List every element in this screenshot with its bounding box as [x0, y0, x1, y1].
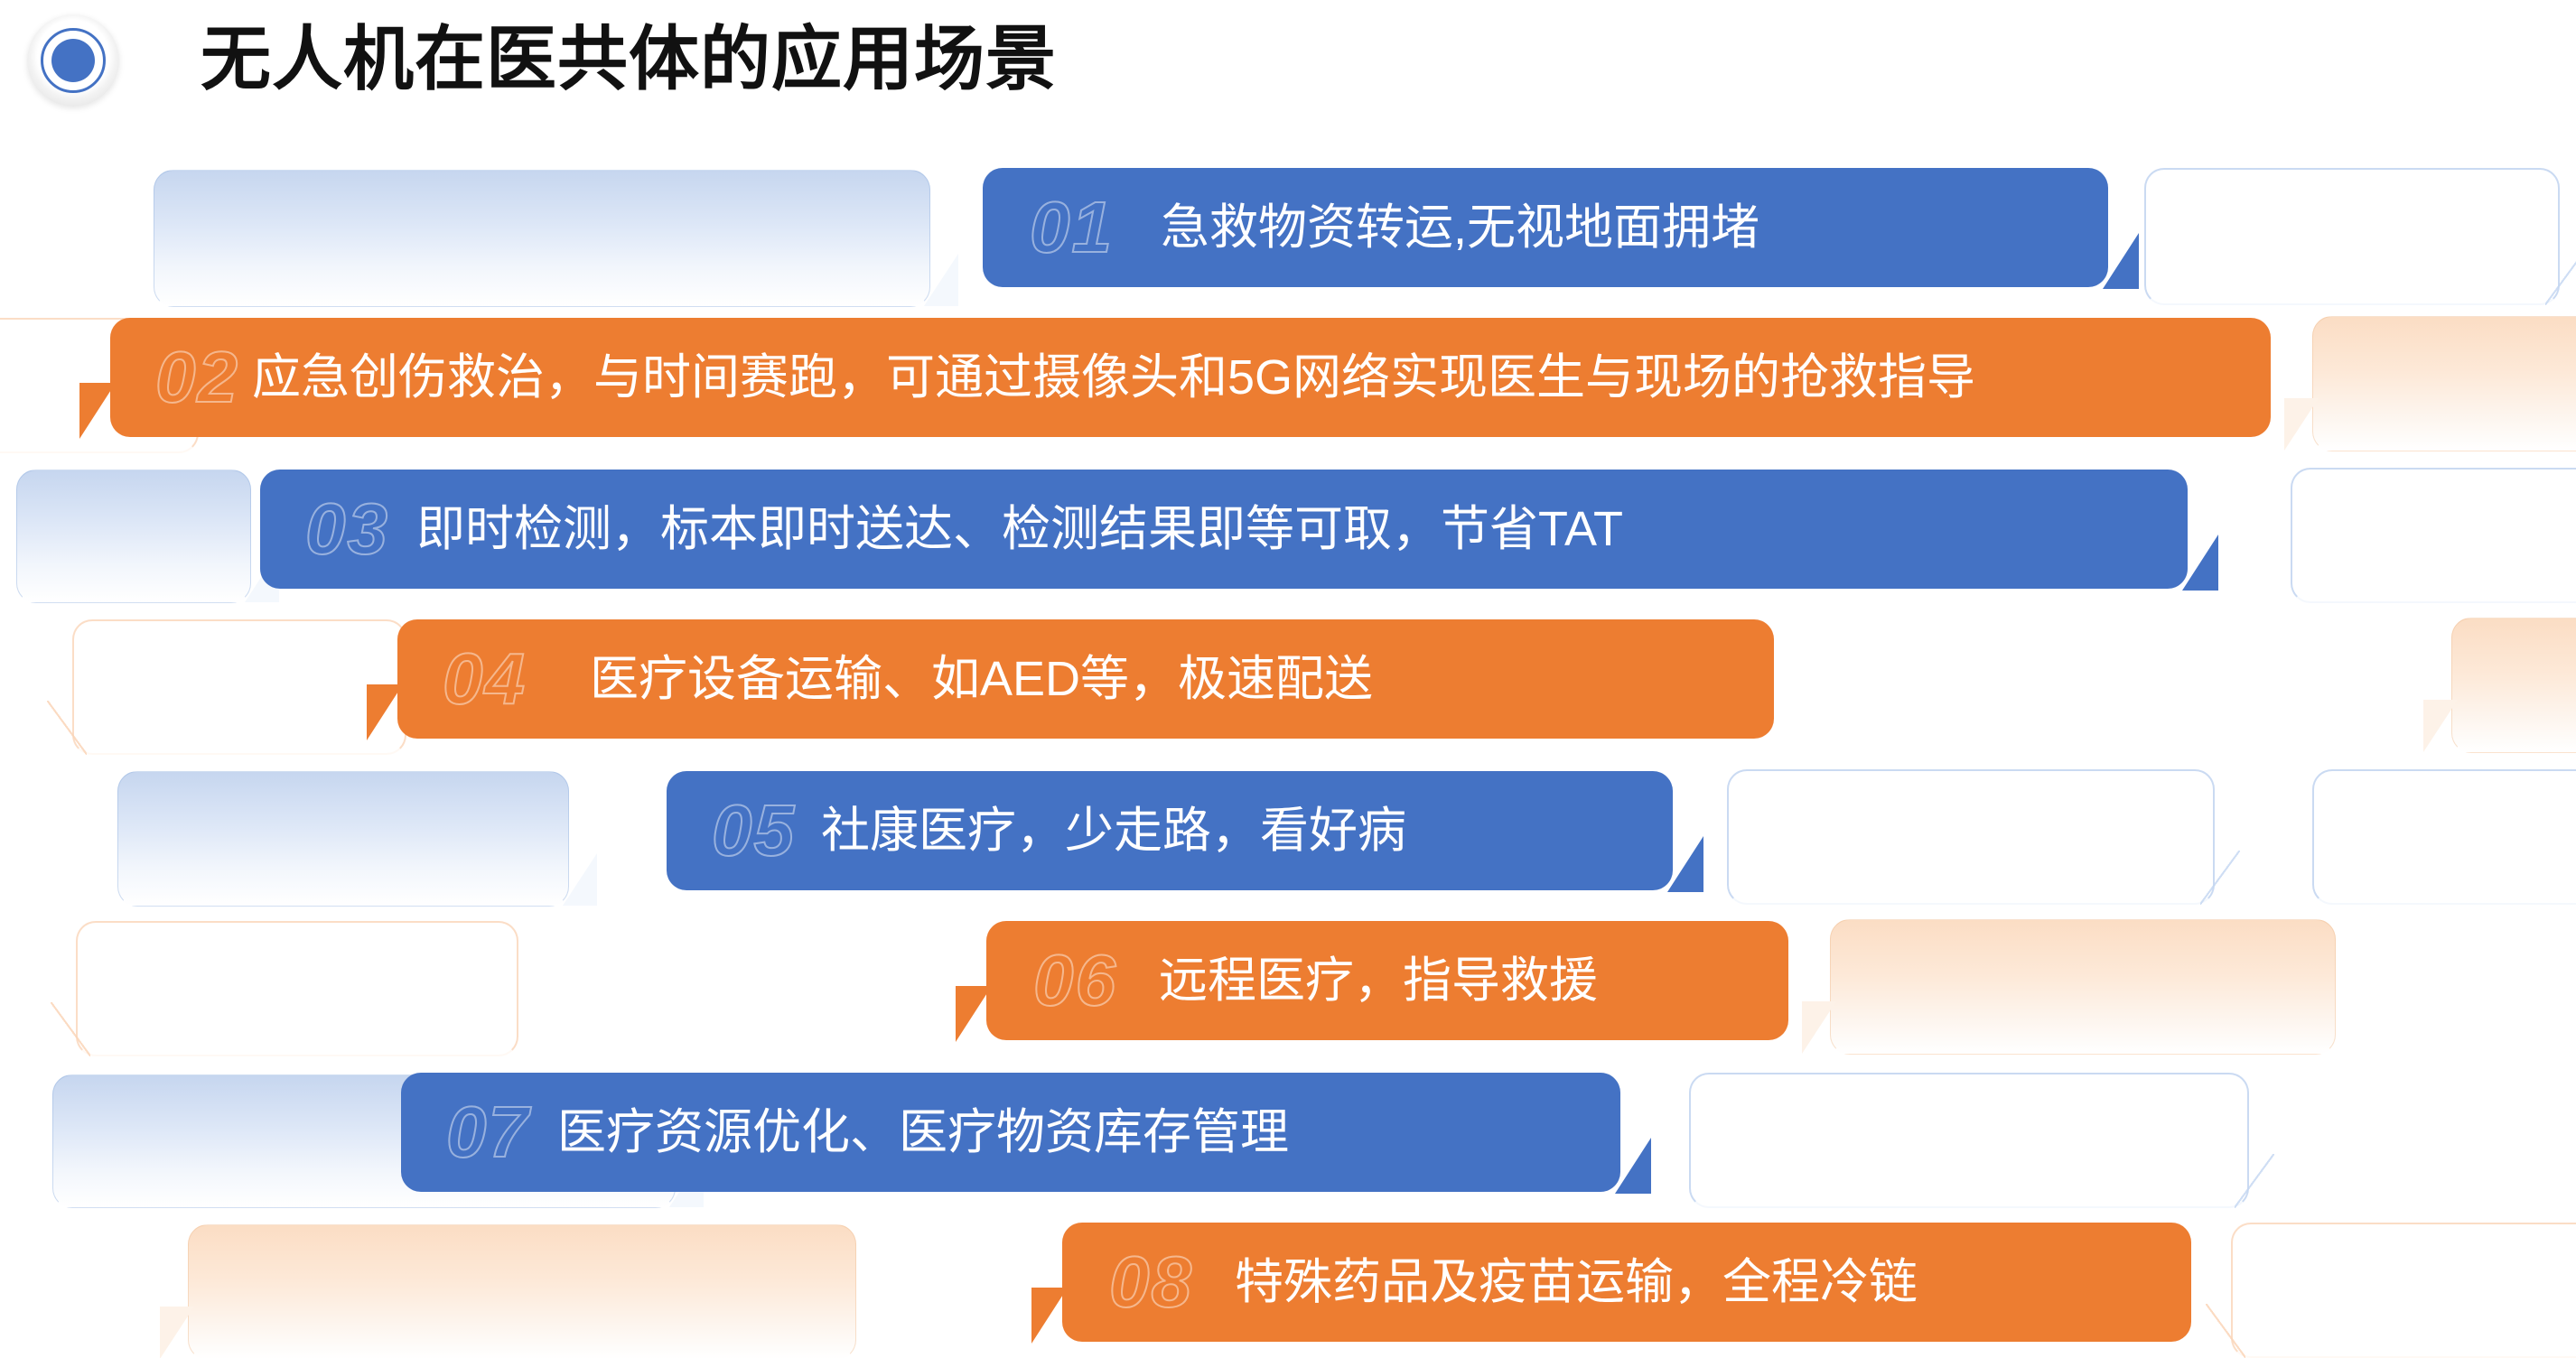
- scenario-bubble-03[interactable]: 03 即时检测，标本即时送达、检测结果即等可取，节省TAT: [260, 470, 2188, 589]
- bubble-number: 01: [1030, 191, 1114, 264]
- bubble-number: 05: [712, 795, 796, 867]
- icon-ring: [41, 28, 106, 93]
- scenario-bubble-08[interactable]: 08 特殊药品及疫苗运输，全程冷链: [1062, 1223, 2191, 1342]
- bubble-number: 02: [155, 341, 239, 414]
- bubble-text: 医疗资源优化、医疗物资库存管理: [557, 1104, 1289, 1160]
- content-bubble-layer: 01 急救物资转运,无视地面拥堵 02 应急创伤救治，与时间赛跑，可通过摄像头和…: [0, 0, 2576, 1358]
- scenario-bubble-07[interactable]: 07 医疗资源优化、医疗物资库存管理: [401, 1073, 1620, 1192]
- bubble-number: 07: [446, 1096, 530, 1168]
- slide-header: 无人机在医共体的应用场景: [0, 0, 2576, 135]
- icon-dot: [51, 39, 95, 82]
- slide-canvas: 无人机在医共体的应用场景 01 急救物资转运,无视地面拥堵 02 应急创伤救治，…: [0, 0, 2576, 1358]
- scenario-bubble-06[interactable]: 06 远程医疗，指导救援: [986, 921, 1788, 1040]
- bubble-text: 远程医疗，指导救援: [1159, 953, 1598, 1009]
- bubble-text: 特殊药品及疫苗运输，全程冷链: [1235, 1254, 1918, 1310]
- bubble-number: 03: [305, 493, 389, 565]
- scenario-bubble-02[interactable]: 02 应急创伤救治，与时间赛跑，可通过摄像头和5G网络实现医生与现场的抢救指导: [110, 318, 2271, 437]
- bubble-number: 06: [1033, 944, 1117, 1017]
- page-title: 无人机在医共体的应用场景: [201, 5, 1057, 112]
- bubble-number: 04: [443, 643, 527, 715]
- bubble-text: 即时检测，标本即时送达、检测结果即等可取，节省TAT: [416, 501, 1623, 557]
- bubble-text: 应急创伤救治，与时间赛跑，可通过摄像头和5G网络实现医生与现场的抢救指导: [252, 349, 1975, 405]
- scenario-bubble-05[interactable]: 05 社康医疗，少走路，看好病: [667, 771, 1673, 890]
- scenario-bubble-01[interactable]: 01 急救物资转运,无视地面拥堵: [983, 168, 2108, 287]
- scenario-bubble-04[interactable]: 04 医疗设备运输、如AED等，极速配送: [397, 619, 1774, 739]
- bubble-text: 医疗设备运输、如AED等，极速配送: [590, 651, 1373, 707]
- bubble-number: 08: [1109, 1246, 1193, 1318]
- bubble-text: 社康医疗，少走路，看好病: [821, 803, 1406, 859]
- bubble-text: 急救物资转运,无视地面拥堵: [1161, 200, 1759, 256]
- target-circle-icon: [27, 14, 119, 107]
